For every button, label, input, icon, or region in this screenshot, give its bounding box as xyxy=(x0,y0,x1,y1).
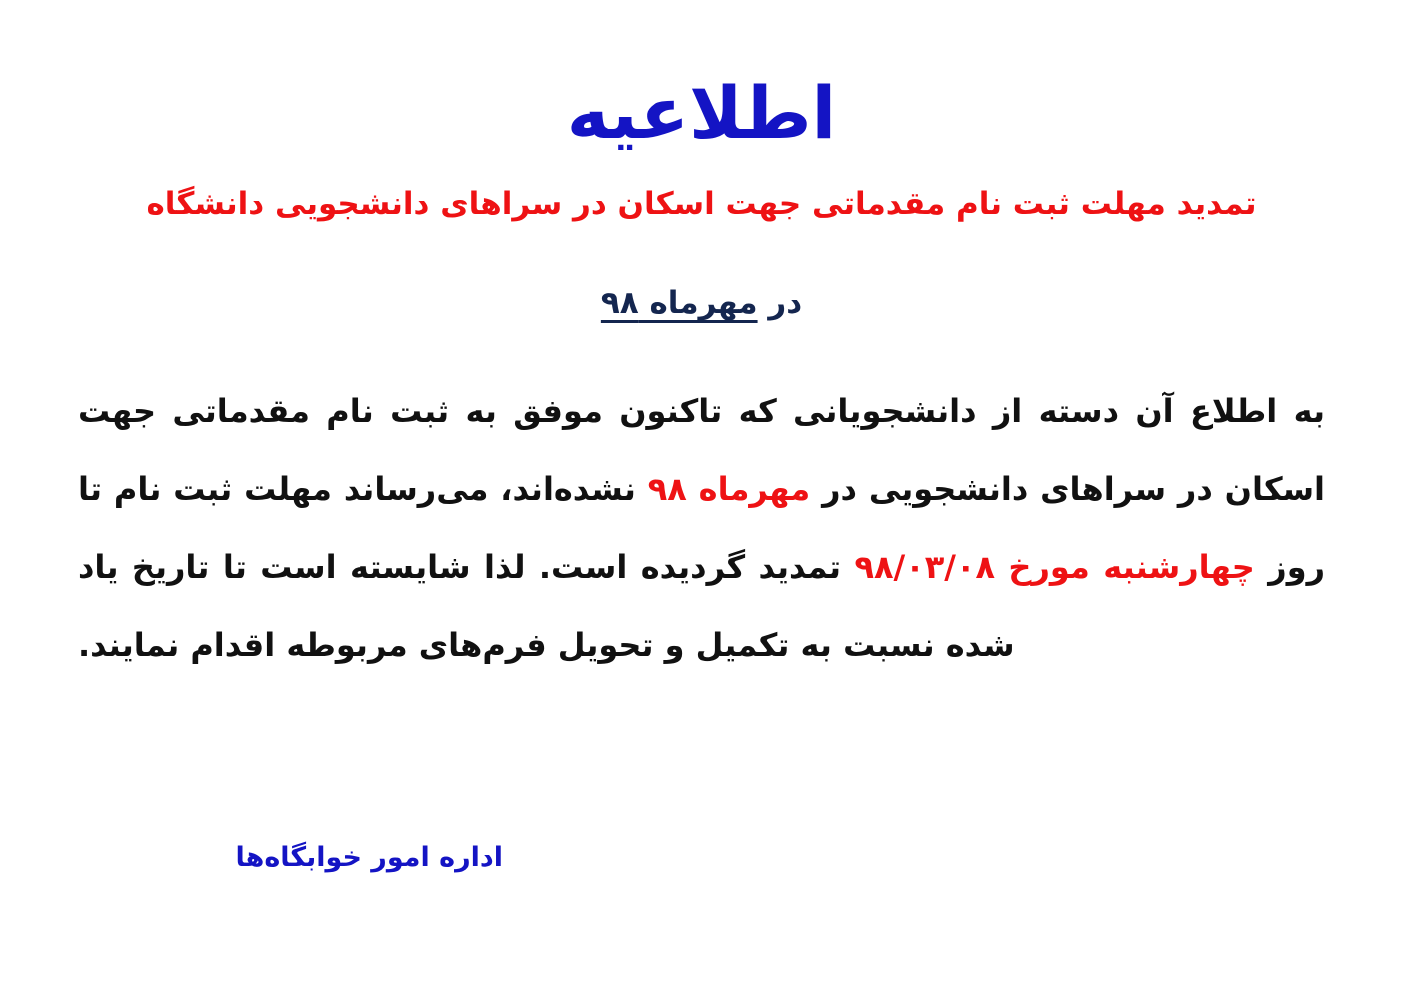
announcement-text: به اطلاع آن دسته از دانشجویانی که تاکنون… xyxy=(78,372,1325,684)
subtitle-line-primary: تمدید مهلت ثبت نام مقدماتی جهت اسکان در … xyxy=(0,186,1403,223)
subtitle-prefix-text: در xyxy=(758,285,803,321)
subtitle-underlined-date: مهرماه ۹۸ xyxy=(601,285,758,321)
body-paragraph: به اطلاع آن دسته از دانشجویانی که تاکنون… xyxy=(78,372,1325,684)
body-highlight-deadline-date: چهارشنبه مورخ ۹۸/۰۳/۰۸ xyxy=(854,548,1254,586)
body-highlight-month: مهرماه ۹۸ xyxy=(648,470,811,508)
page-title: اطلاعیه xyxy=(0,76,1403,152)
subtitle-line-secondary: در مهرماه ۹۸ xyxy=(0,285,1403,322)
subtitle-block: تمدید مهلت ثبت نام مقدماتی جهت اسکان در … xyxy=(0,186,1403,322)
signature-dormitory-office: اداره امور خوابگاه‌ها xyxy=(235,842,503,874)
announcement-page: اطلاعیه تمدید مهلت ثبت نام مقدماتی جهت ا… xyxy=(0,0,1403,992)
